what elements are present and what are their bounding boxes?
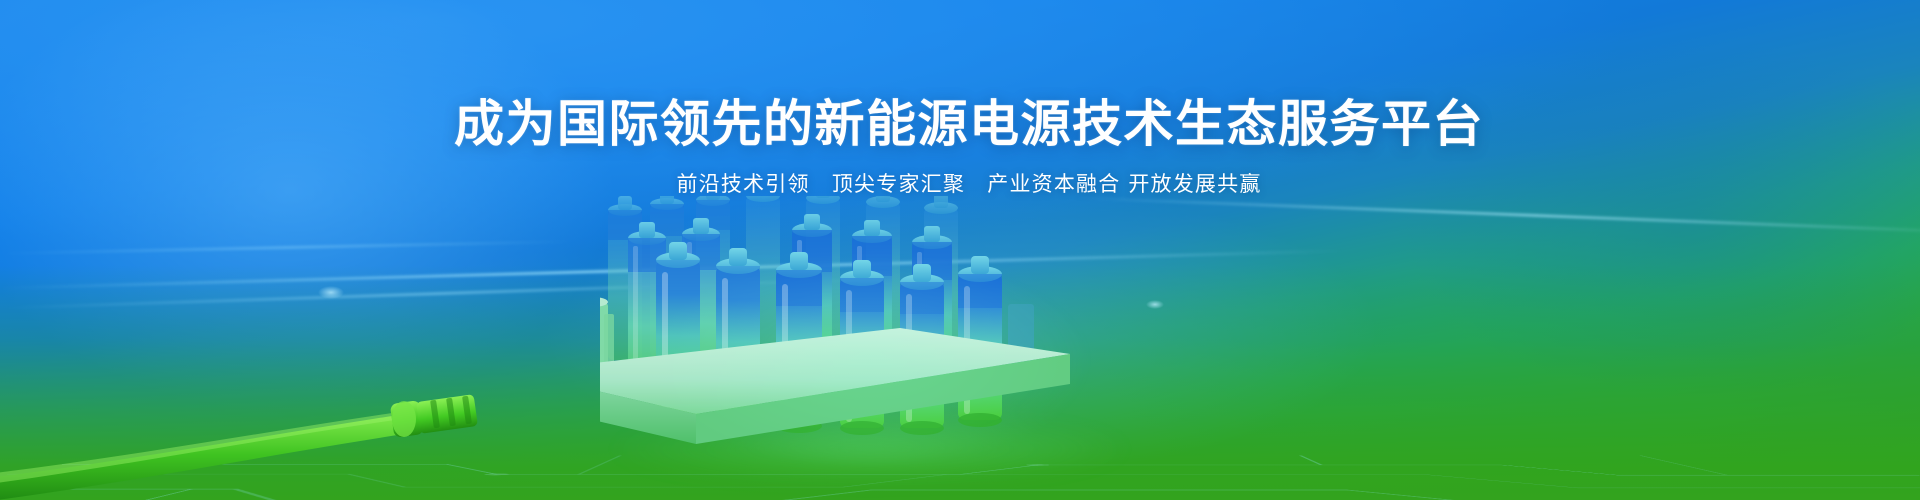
- glow-dot: [1146, 300, 1164, 309]
- banner-headline: 成为国际领先的新能源电源技术生态服务平台: [18, 96, 1920, 153]
- banner-subheadline: 前沿技术引领 顶尖专家汇聚 产业资本融合 开放发展共赢: [18, 171, 1920, 198]
- banner-copy: 成为国际领先的新能源电源技术生态服务平台 前沿技术引领 顶尖专家汇聚 产业资本融…: [0, 96, 1920, 198]
- battery-module-graphic: [600, 196, 1120, 476]
- hero-banner: 成为国际领先的新能源电源技术生态服务平台 前沿技术引领 顶尖专家汇聚 产业资本融…: [0, 0, 1920, 500]
